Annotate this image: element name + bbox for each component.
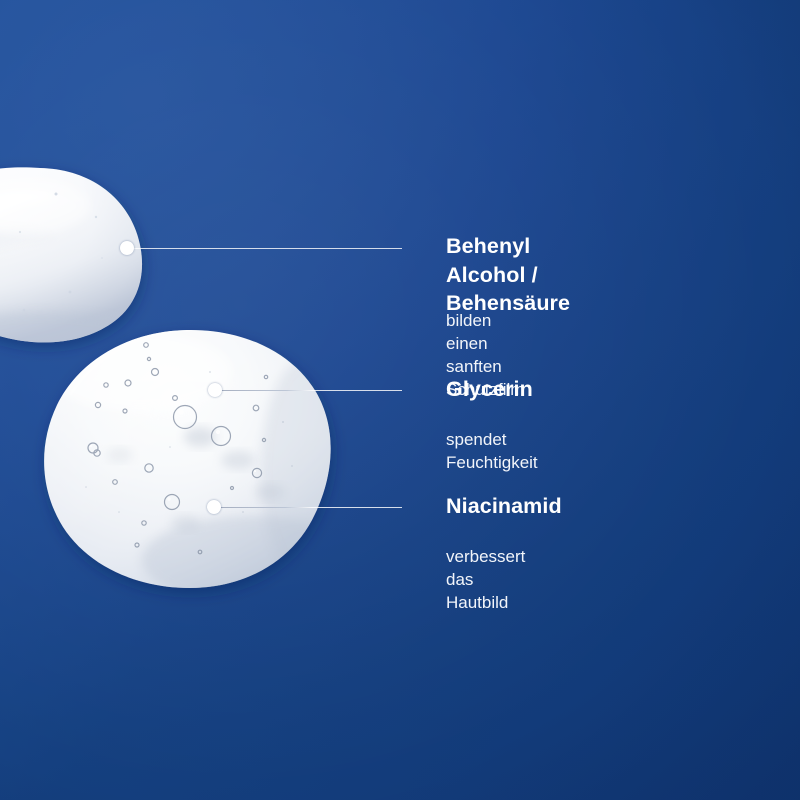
callout-line-3 <box>214 507 402 508</box>
ingredient-desc-3: verbessert das Hautbild <box>446 546 525 615</box>
ingredient-infographic: Behenyl Alcohol / Behensäure bilden eine… <box>0 0 800 800</box>
callout-desc-block-3: verbessert das Hautbild <box>446 546 525 615</box>
product-texture-layer <box>0 0 800 800</box>
product-blobs-svg <box>0 0 800 800</box>
callout-text-1: Behenyl Alcohol / Behensäure <box>446 232 570 318</box>
callout-dot-1[interactable] <box>120 241 134 255</box>
callout-text-2: Glycerin <box>446 375 533 404</box>
cream-blob-detail <box>0 167 150 364</box>
gel-blob-detail <box>44 330 362 604</box>
ingredient-title-3: Niacinamid <box>446 492 562 521</box>
callout-text-3: Niacinamid <box>446 492 562 521</box>
callout-desc-block-2: spendet Feuchtigkeit <box>446 429 538 475</box>
callout-line-1 <box>127 248 402 249</box>
ingredient-title-1: Behenyl Alcohol / Behensäure <box>446 232 570 318</box>
callout-line-2 <box>215 390 402 391</box>
callout-dot-3[interactable] <box>207 500 221 514</box>
callout-dot-2[interactable] <box>208 383 222 397</box>
ingredient-title-2: Glycerin <box>446 375 533 404</box>
ingredient-desc-2: spendet Feuchtigkeit <box>446 429 538 475</box>
